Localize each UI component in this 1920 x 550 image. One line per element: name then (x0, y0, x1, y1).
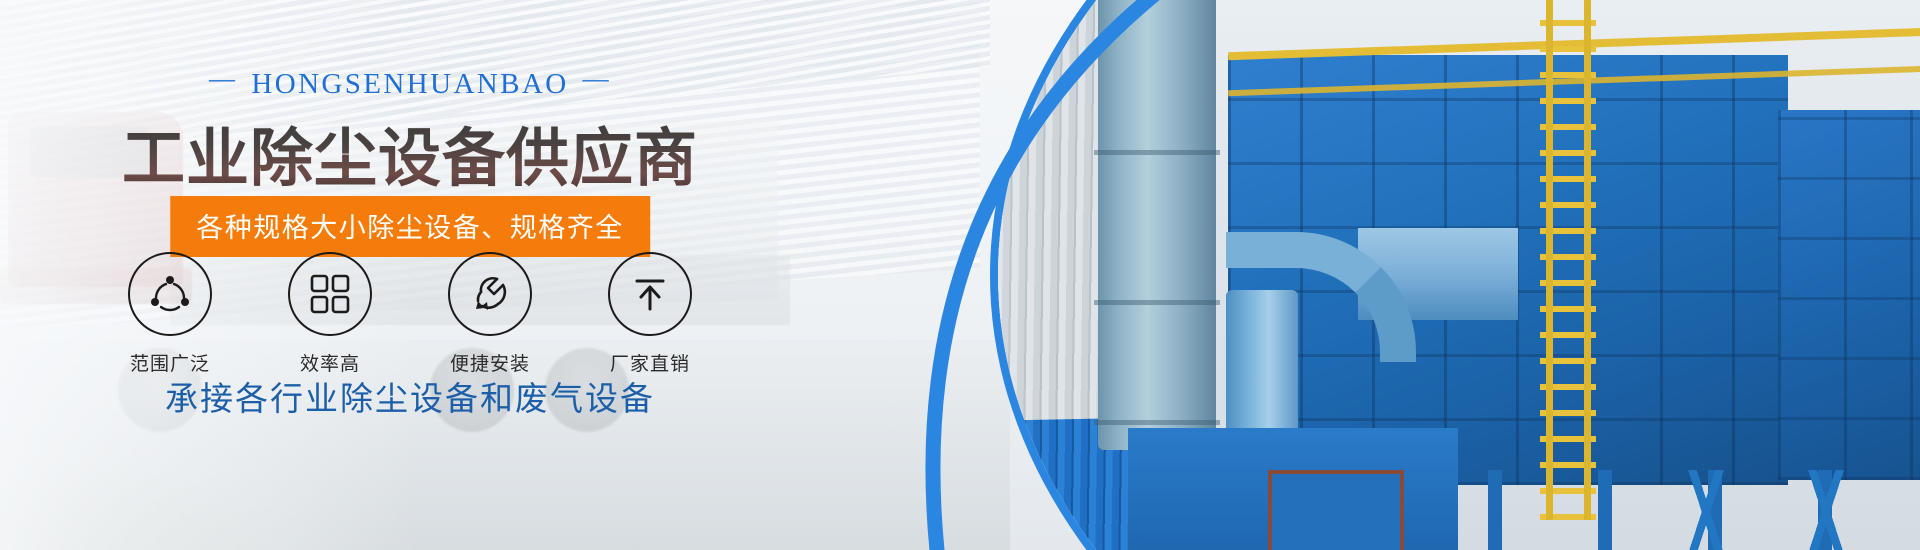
feature-icon-circle (608, 252, 692, 336)
feature-list: 范围广泛 效率高 (0, 252, 820, 376)
arrow-up-bar-icon (628, 272, 672, 316)
subtitle-badge: 各种规格大小除尘设备、规格齐全 (170, 196, 650, 257)
feature-item-range[interactable]: 范围广泛 (114, 252, 226, 376)
feature-icon-circle (288, 252, 372, 336)
wrench-recycle-icon (467, 271, 513, 317)
blue-arc-divider (760, 0, 1180, 550)
network-nodes-icon (147, 271, 193, 317)
feature-icon-circle (448, 252, 532, 336)
brand-eyebrow: —HONGSENHUANBAO— (0, 68, 820, 101)
hero-banner: —HONGSENHUANBAO— 工业除尘设备供应商 各种规格大小除尘设备、规格… (0, 0, 1920, 550)
hero-tagline: 承接各行业除尘设备和废气设备 (0, 372, 820, 420)
feature-icon-circle (128, 252, 212, 336)
feature-item-direct-sale[interactable]: 厂家直销 (594, 252, 706, 376)
eyebrow-dash-left: — (195, 64, 251, 94)
page-title: 工业除尘设备供应商 (0, 108, 820, 199)
eyebrow-text: HONGSENHUANBAO (251, 68, 568, 100)
eyebrow-dash-right: — (569, 64, 625, 94)
feature-item-install[interactable]: 便捷安装 (434, 252, 546, 376)
hero-content: —HONGSENHUANBAO— 工业除尘设备供应商 各种规格大小除尘设备、规格… (0, 0, 820, 550)
feature-item-efficiency[interactable]: 效率高 (274, 252, 386, 376)
four-squares-grid-icon (309, 273, 351, 315)
